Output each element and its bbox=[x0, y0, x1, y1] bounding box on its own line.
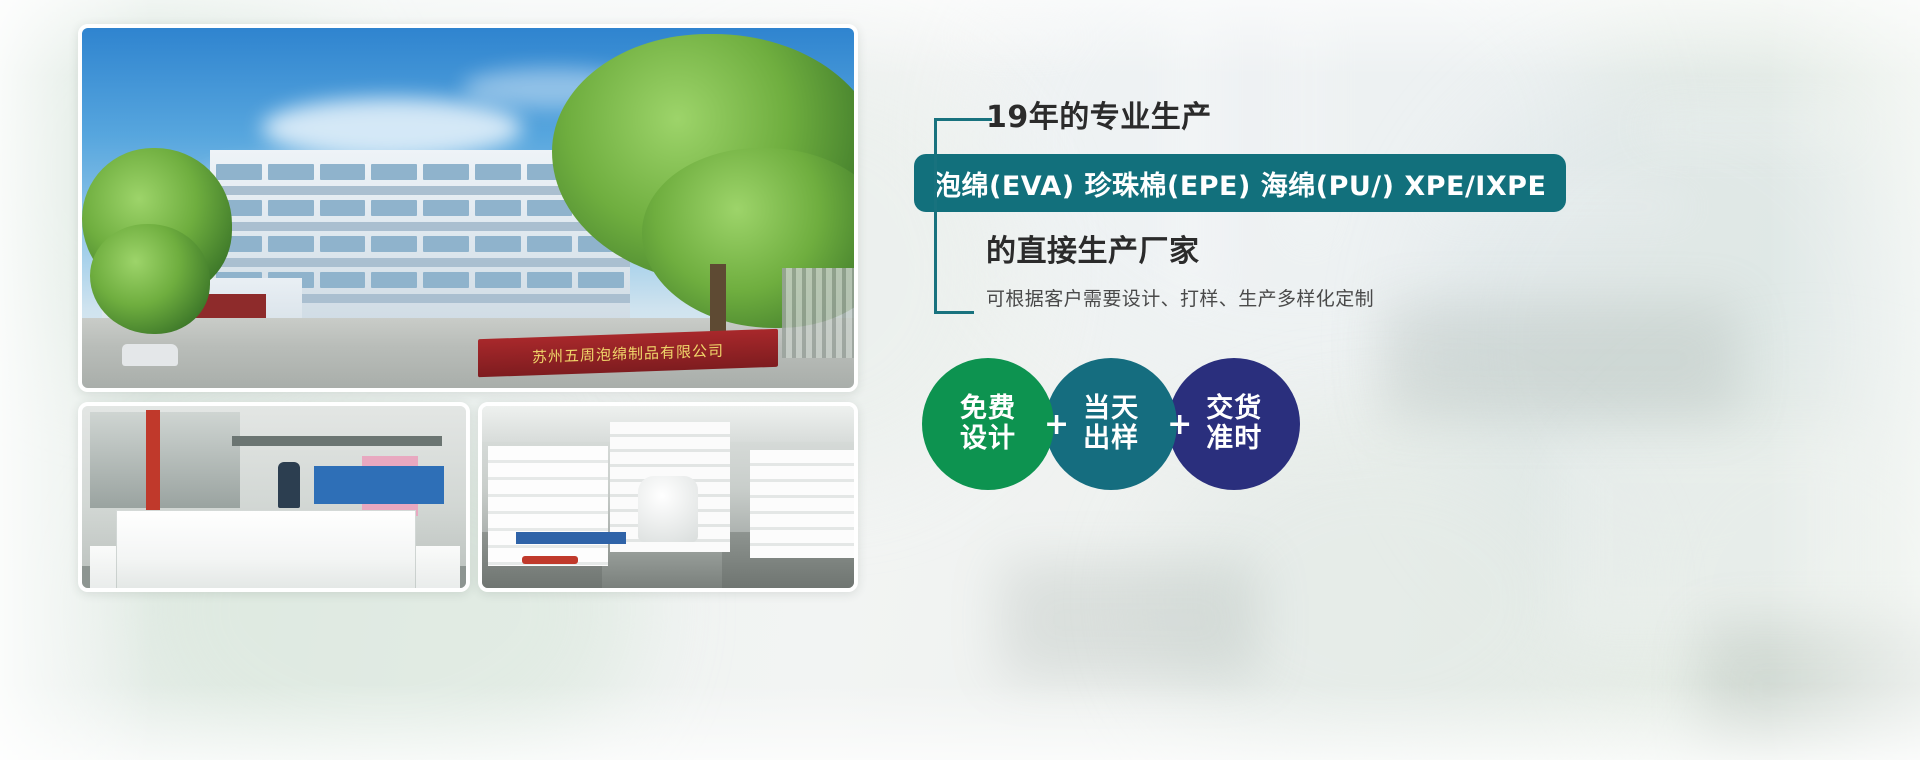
photo-red-post bbox=[146, 410, 160, 520]
photo-cloud bbox=[262, 98, 522, 158]
photo-fence bbox=[782, 268, 858, 358]
photo-rail bbox=[232, 436, 442, 446]
bracket-spine bbox=[934, 118, 937, 314]
headline-line-1: 19年的专业生产 bbox=[986, 92, 1212, 136]
photo-worker bbox=[278, 462, 300, 508]
photo-red-tool bbox=[522, 556, 578, 564]
photo-cutting-machine bbox=[90, 412, 240, 508]
headline-line-2: 的直接生产厂家 bbox=[986, 226, 1614, 270]
headline-row-top: 19年的专业生产 bbox=[914, 92, 1614, 144]
bracket-connector bbox=[914, 118, 976, 314]
photo-foam-cutting-workshop bbox=[78, 402, 470, 592]
company-sign-text: 苏州五周泡绵制品有限公司 bbox=[532, 339, 724, 367]
photo-foam-stack bbox=[488, 446, 608, 566]
photo-warehouse-aisle bbox=[478, 402, 858, 592]
photo-car bbox=[122, 344, 178, 366]
feature-line-2: 设计 bbox=[960, 424, 1016, 454]
photo-factory-exterior: 苏州五周泡绵制品有限公司 bbox=[78, 24, 858, 392]
photo-foam-block bbox=[116, 510, 416, 592]
feature-line-2: 出样 bbox=[1083, 424, 1139, 454]
feature-line-2: 准时 bbox=[1206, 424, 1262, 454]
photo-blue-table bbox=[516, 532, 626, 544]
feature-line-1: 交货 bbox=[1206, 394, 1262, 424]
plus-separator-2: + bbox=[1167, 407, 1192, 442]
description-text: 可根据客户需要设计、打样、生产多样化定制 bbox=[986, 284, 1614, 311]
product-list-pill: 泡绵(EVA) 珍珠棉(EPE) 海绵(PU/) XPE/IXPE bbox=[914, 154, 1566, 212]
product-list-text: 泡绵(EVA) 珍珠棉(EPE) 海绵(PU/) XPE/IXPE bbox=[934, 164, 1546, 203]
headline-block: 19年的专业生产 泡绵(EVA) 珍珠棉(EPE) 海绵(PU/) XPE/IX… bbox=[914, 92, 1614, 311]
photo-packed-bag bbox=[638, 476, 698, 542]
feature-circle-free-design: 免费 设计 bbox=[922, 358, 1054, 490]
feature-line-1: 当天 bbox=[1083, 394, 1139, 424]
photo-blue-machine bbox=[314, 466, 444, 504]
plus-separator-1: + bbox=[1044, 407, 1069, 442]
feature-line-1: 免费 bbox=[960, 394, 1016, 424]
feature-circles: 免费 设计 + 当天 出样 + 交货 准时 bbox=[922, 358, 1300, 490]
promo-banner: 苏州五周泡绵制品有限公司 19年的专业生产 bbox=[0, 0, 1920, 760]
photo-foam-stack bbox=[750, 450, 854, 558]
